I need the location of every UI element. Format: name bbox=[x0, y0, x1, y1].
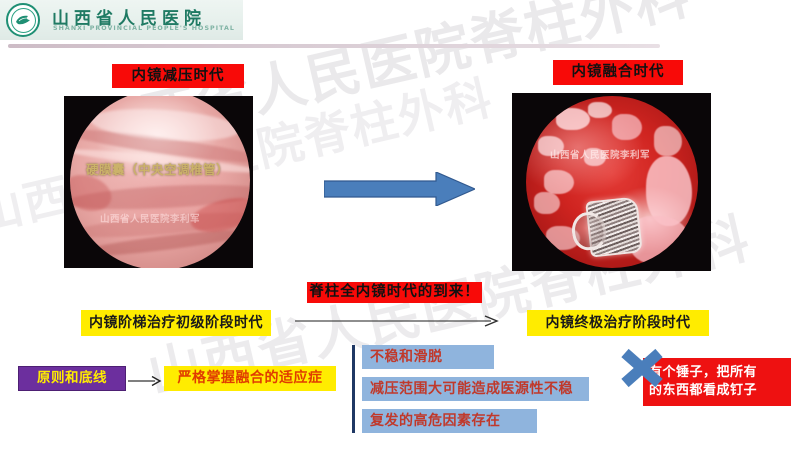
vertical-brace-icon bbox=[352, 345, 355, 433]
endoscopic-image-left: 硬膜囊（中央空调椎管） 山西省人民医院李利军 bbox=[64, 96, 253, 268]
right-block-arrow-icon bbox=[324, 172, 475, 206]
hammer-line-1: 有个锤子，把所有 bbox=[649, 364, 757, 382]
right-line-arrow-icon bbox=[295, 313, 500, 327]
blue-x-cross-icon bbox=[620, 348, 664, 388]
label-full-endoscopic-era: 脊柱全内镜时代的到来！ bbox=[307, 282, 482, 303]
label-hammer-nail-quote: 有个锤子，把所有 的东西都看成钉子 bbox=[643, 358, 791, 406]
endoscope-field-left bbox=[70, 96, 250, 268]
label-right-era: 内镜融合时代 bbox=[553, 60, 683, 85]
label-strict-fusion-indication: 严格掌握融合的适应症 bbox=[164, 366, 336, 391]
hammer-line-2: 的东西都看成钉子 bbox=[649, 382, 757, 400]
label-principle-bottomline: 原则和底线 bbox=[18, 366, 126, 391]
label-stage-ultimate: 内镜终极治疗阶段时代 bbox=[527, 310, 709, 336]
blue-point-recurrence-risk: 复发的高危因素存在 bbox=[362, 409, 537, 433]
blue-point-wide-decompression: 减压范围大可能造成医源性不稳 bbox=[362, 377, 589, 401]
dove-emblem-icon bbox=[6, 3, 40, 37]
label-stage-primary: 内镜阶梯治疗初级阶段时代 bbox=[81, 310, 271, 336]
logo-inner-ring bbox=[11, 8, 36, 33]
slide-canvas: 山西省人民医院脊柱外科 山西省人民医院脊柱外科 山西省人民医院脊柱外科 山西省人… bbox=[0, 0, 800, 450]
header-divider bbox=[8, 44, 660, 48]
endoscope-field-right bbox=[526, 96, 698, 268]
label-left-era: 内镜减压时代 bbox=[112, 64, 244, 88]
blue-point-instability: 不稳和滑脱 bbox=[362, 345, 494, 369]
hospital-name-en: SHANXI PROVINCIAL PEOPLE'S HOSPITAL bbox=[53, 25, 235, 32]
right-small-arrow-icon bbox=[128, 372, 162, 384]
slide-header: 山西省人民医院 SHANXI PROVINCIAL PEOPLE'S HOSPI… bbox=[0, 0, 800, 44]
endoscopic-image-right: 山西省人民医院李利军 bbox=[512, 93, 711, 271]
